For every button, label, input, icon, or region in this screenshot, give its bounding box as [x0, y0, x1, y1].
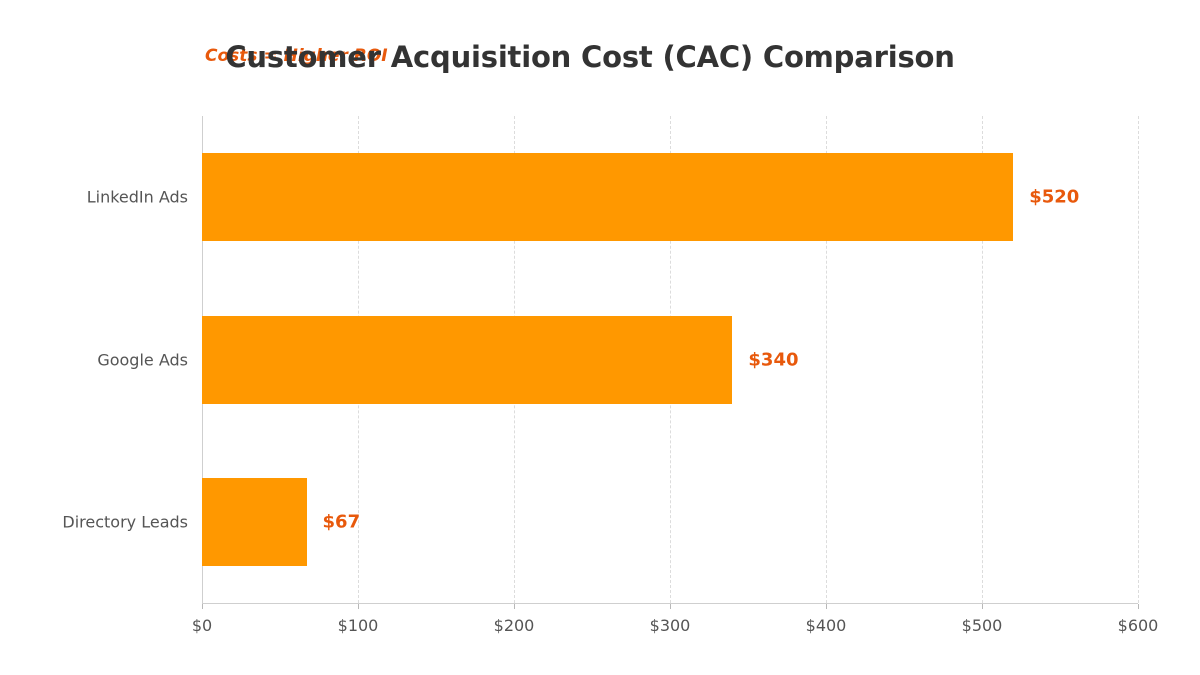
- bar-linkedin-ads[interactable]: [202, 153, 1013, 241]
- bar-value-label: $340: [748, 349, 798, 370]
- chart-figure: Costs = Higher ROI Customer Acquisition …: [0, 0, 1200, 675]
- x-tick-mark: [1138, 604, 1139, 609]
- chart-annotation: Costs = Higher ROI: [205, 46, 388, 66]
- y-axis-label-linkedin-ads: LinkedIn Ads: [0, 188, 188, 207]
- x-tick-mark: [514, 604, 515, 609]
- title-layer: Costs = Higher ROI Customer Acquisition …: [0, 40, 1200, 86]
- x-tick-label: $100: [338, 616, 379, 635]
- bar-google-ads[interactable]: [202, 316, 732, 404]
- x-tick-label: $300: [650, 616, 691, 635]
- x-tick-mark: [826, 604, 827, 609]
- x-tick-label: $200: [494, 616, 535, 635]
- x-tick-label: $400: [806, 616, 847, 635]
- bar-directory-leads[interactable]: [202, 478, 307, 566]
- x-tick-mark: [358, 604, 359, 609]
- x-tick-mark: [670, 604, 671, 609]
- gridline: [1138, 116, 1139, 603]
- x-tick-mark: [982, 604, 983, 609]
- x-tick-label: $600: [1118, 616, 1159, 635]
- bar-value-label: $520: [1029, 187, 1079, 208]
- x-tick-label: $0: [192, 616, 212, 635]
- x-tick-label: $500: [962, 616, 1003, 635]
- x-tick-mark: [202, 604, 203, 609]
- plot-area: $0$100$200$300$400$500$600 $520$340$67: [202, 116, 1138, 603]
- y-axis-label-directory-leads: Directory Leads: [0, 512, 188, 531]
- page-title: Customer Acquisition Cost (CAC) Comparis…: [200, 40, 980, 74]
- bar-value-label: $67: [323, 511, 361, 532]
- y-axis-label-google-ads: Google Ads: [0, 350, 188, 369]
